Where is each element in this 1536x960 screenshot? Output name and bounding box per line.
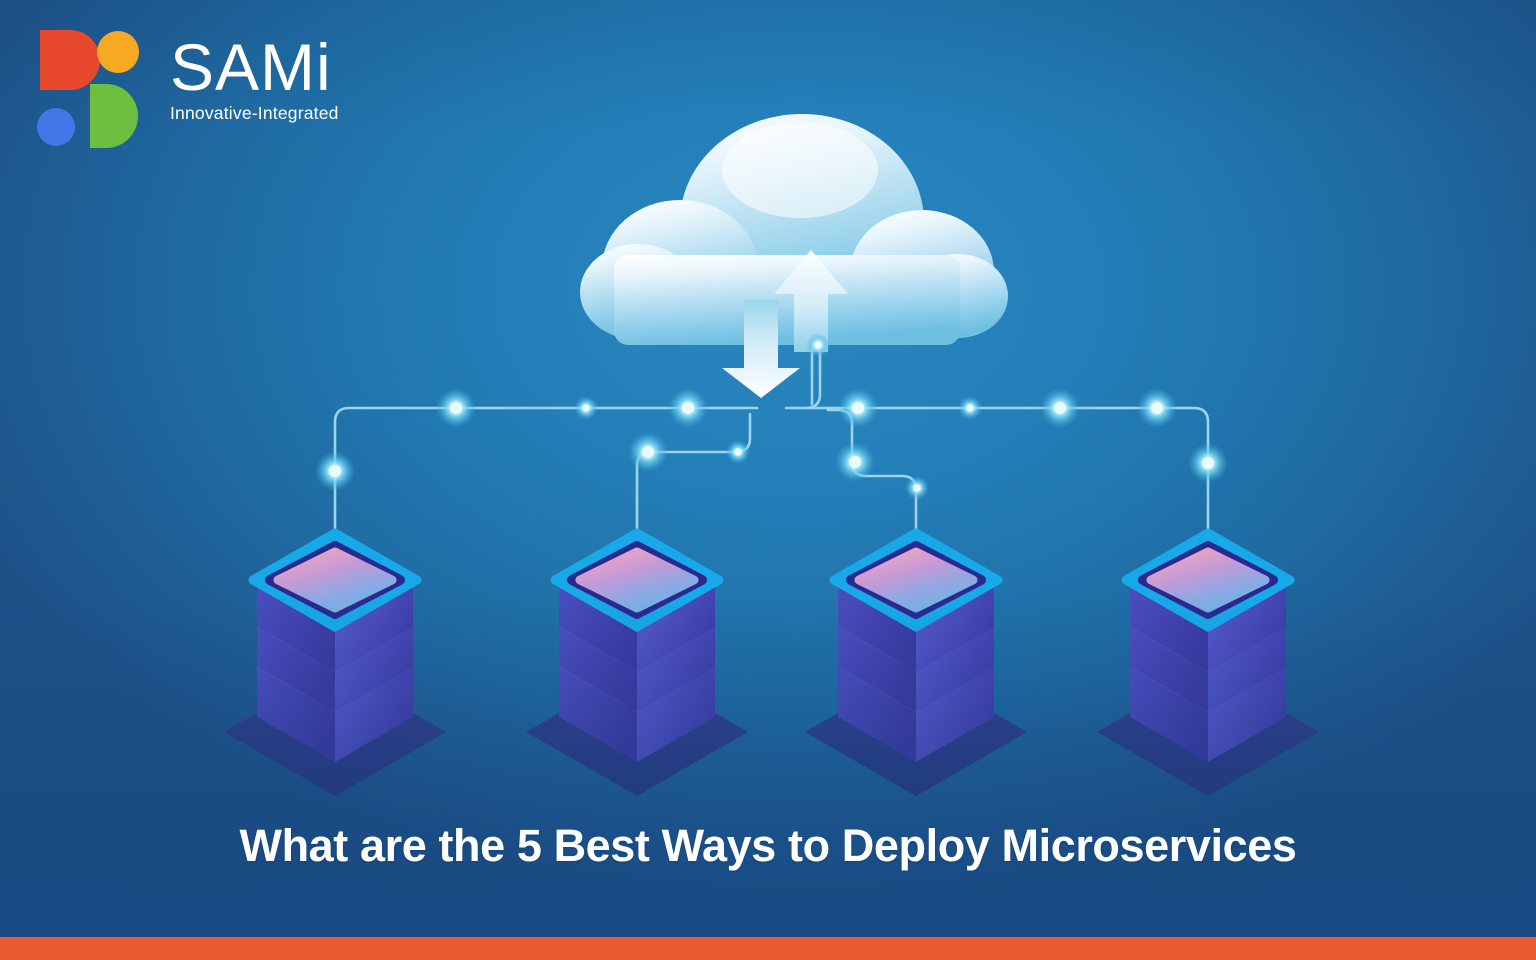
brand-tagline: Innovative-Integrated (170, 103, 400, 124)
server-stack-4 (1097, 533, 1319, 796)
logo-wordmark: SAMi Innovative-Integrated (170, 36, 400, 124)
page-title: What are the 5 Best Ways to Deploy Micro… (0, 820, 1536, 872)
server-stack-1 (224, 533, 446, 796)
server-stack-3 (805, 533, 1027, 796)
bottom-accent-bar (0, 937, 1536, 960)
brand-name: SAMi (170, 36, 400, 99)
brand-logo[interactable]: SAMi Innovative-Integrated (28, 22, 388, 152)
logo-mark-icon (28, 22, 148, 150)
banner-canvas: SAMi Innovative-Integrated What are the … (0, 0, 1536, 960)
server-stack-2 (526, 533, 748, 796)
